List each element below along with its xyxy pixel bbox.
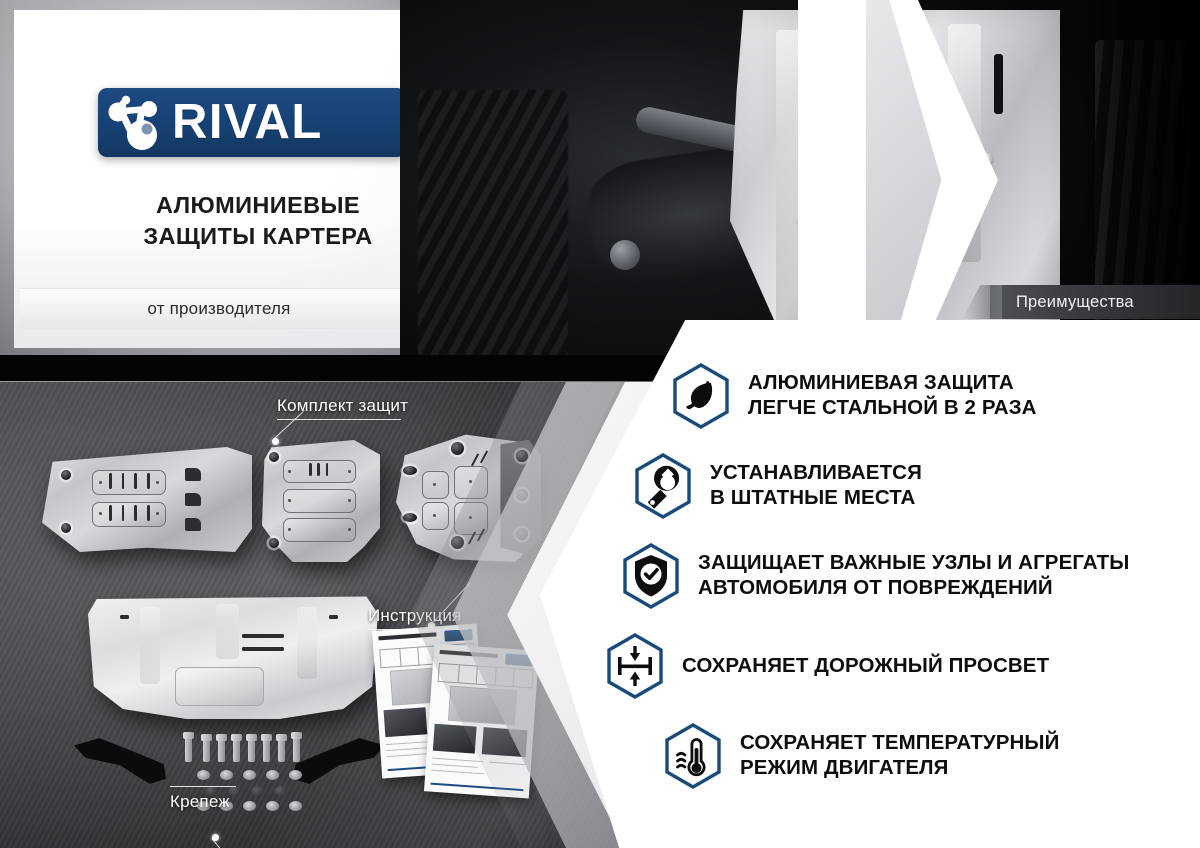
advantage-5-line2: РЕЖИМ ДВИГАТЕЛЯ: [740, 756, 1059, 781]
advantage-2-line1: УСТАНАВЛИВАЕТСЯ: [710, 461, 922, 486]
advantage-text-2: УСТАНАВЛИВАЕТСЯ В ШТАТНЫЕ МЕСТА: [710, 461, 922, 510]
poster-root: RIVAL АЛЮМИНИЕВЫЕ ЗАЩИТЫ КАРТЕРА от прои…: [0, 0, 1200, 848]
advantage-5-line1: СОХРАНЯЕТ ТЕМПЕРАТУРНЫЙ: [740, 731, 1059, 756]
advantage-1-line2: ЛЕГЧЕ СТАЛЬНОЙ В 2 РАЗА: [748, 396, 1037, 421]
molecule-icon: [98, 88, 172, 157]
advantage-item-1: АЛЮМИНИЕВАЯ ЗАЩИТА ЛЕГЧЕ СТАЛЬНОЙ В 2 РА…: [670, 362, 1192, 430]
divider-black-band: [0, 355, 700, 381]
advantage-item-4: СОХРАНЯЕТ ДОРОЖНЫЙ ПРОСВЕТ: [604, 632, 1192, 700]
thermometer-icon: [662, 722, 724, 790]
advantage-item-3: ЗАЩИЩАЕТ ВАЖНЫЕ УЗЛЫ И АГРЕГАТЫ АВТОМОБИ…: [620, 542, 1192, 610]
advantages-banner-label: Преимущества: [1016, 293, 1134, 312]
advantage-2-line2: В ШТАТНЫЕ МЕСТА: [710, 486, 922, 511]
skid-plate-left: [42, 447, 252, 552]
skid-plate-large-bottom: [88, 594, 378, 719]
advantage-text-4: СОХРАНЯЕТ ДОРОЖНЫЙ ПРОСВЕТ: [682, 654, 1049, 679]
rival-logo-text: RIVAL: [172, 98, 323, 147]
advantage-3-line1: ЗАЩИЩАЕТ ВАЖНЫЕ УЗЛЫ И АГРЕГАТЫ: [698, 551, 1129, 576]
page-title-line1: АЛЮМИНИЕВЫЕ: [98, 190, 418, 221]
leaf-icon: [670, 362, 732, 430]
page-title: АЛЮМИНИЕВЫЕ ЗАЩИТЫ КАРТЕРА: [98, 190, 418, 253]
ground-clearance-icon: [604, 632, 666, 700]
advantage-text-5: СОХРАНЯЕТ ТЕМПЕРАТУРНЫЙ РЕЖИМ ДВИГАТЕЛЯ: [740, 731, 1059, 780]
advantage-4-line1: СОХРАНЯЕТ ДОРОЖНЫЙ ПРОСВЕТ: [682, 654, 1049, 679]
advantage-1-line1: АЛЮМИНИЕВАЯ ЗАЩИТА: [748, 371, 1037, 396]
advantage-text-1: АЛЮМИНИЕВАЯ ЗАЩИТА ЛЕГЧЕ СТАЛЬНОЙ В 2 РА…: [748, 371, 1037, 420]
callout-rule-set: [277, 419, 401, 420]
callout-rule-fasteners: [170, 786, 236, 787]
shield-check-icon: [620, 542, 682, 610]
advantage-item-2: УСТАНАВЛИВАЕТСЯ В ШТАТНЫЕ МЕСТА: [632, 452, 1192, 520]
callout-label-fasteners: Крепеж: [170, 792, 230, 812]
wrench-icon: [632, 452, 694, 520]
rival-logo-badge: RIVAL: [98, 88, 406, 157]
advantage-3-line2: АВТОМОБИЛЯ ОТ ПОВРЕЖДЕНИЙ: [698, 576, 1129, 601]
advantage-text-3: ЗАЩИЩАЕТ ВАЖНЫЕ УЗЛЫ И АГРЕГАТЫ АВТОМОБИ…: [698, 551, 1129, 600]
subtitle-text: от производителя: [147, 299, 290, 319]
skid-plate-middle: [262, 440, 380, 562]
callout-label-set: Комплект защит: [277, 396, 408, 416]
subtitle-band: от производителя: [20, 288, 418, 329]
advantages-list: АЛЮМИНИЕВАЯ ЗАЩИТА ЛЕГЧЕ СТАЛЬНОЙ В 2 РА…: [632, 362, 1192, 812]
page-title-line2: ЗАЩИТЫ КАРТЕРА: [98, 221, 418, 252]
advantage-item-5: СОХРАНЯЕТ ТЕМПЕРАТУРНЫЙ РЕЖИМ ДВИГАТЕЛЯ: [662, 722, 1192, 790]
advantages-banner: Преимущества: [990, 285, 1200, 319]
